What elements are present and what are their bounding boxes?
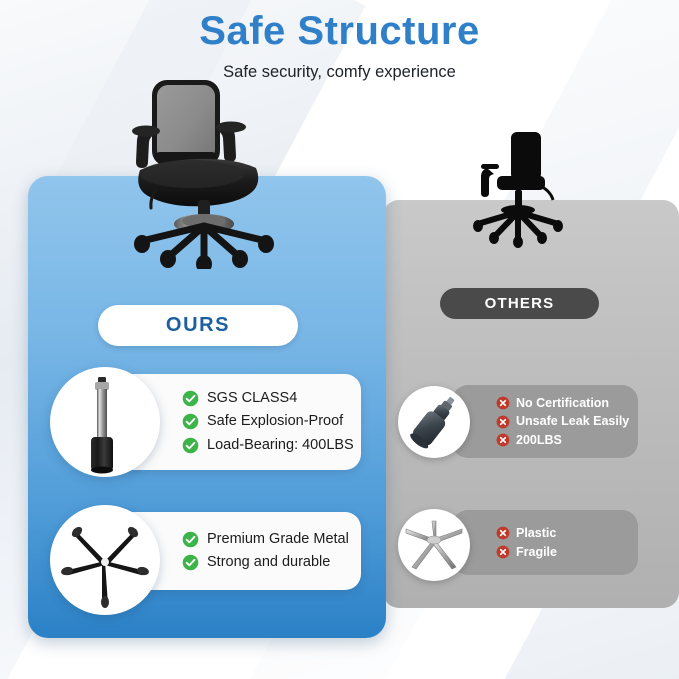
ours-label-text: OURS (166, 314, 230, 337)
feature-item: SGS CLASS4 (182, 388, 354, 409)
feature-item: Safe Explosion-Proof (182, 411, 354, 432)
red-cross-icon (496, 526, 510, 540)
feature-label: Unsafe Leak Easily (516, 412, 629, 430)
feature-item: Plastic (496, 524, 557, 542)
infographic-canvas: Safe Structure Safe security, comfy expe… (0, 0, 679, 679)
feature-list: No Certification Unsafe Leak Easily 200L… (452, 394, 629, 448)
green-check-icon (182, 390, 199, 407)
others-gas-cylinder-thumb (398, 386, 470, 458)
red-cross-icon (496, 396, 510, 410)
others-label-text: OTHERS (485, 295, 555, 312)
page-title: Safe Structure (0, 8, 679, 54)
green-check-icon (182, 554, 199, 571)
ours-label-pill: OURS (98, 305, 298, 346)
ours-chair-photo (110, 74, 305, 269)
feature-label: Plastic (516, 524, 556, 542)
green-check-icon (182, 437, 199, 454)
green-check-icon (182, 531, 199, 548)
feature-item: Strong and durable (182, 552, 349, 573)
feature-item: Load-Bearing: 400LBS (182, 435, 354, 456)
feature-label: Safe Explosion-Proof (207, 411, 343, 432)
gas-cylinder-dark-icon (398, 386, 470, 458)
green-check-icon (182, 413, 199, 430)
feature-label: Premium Grade Metal (207, 529, 349, 550)
gas-cylinder-chrome-icon (50, 367, 160, 477)
feature-item: Fragile (496, 543, 557, 561)
feature-label: No Certification (516, 394, 609, 412)
feature-label: Fragile (516, 543, 557, 561)
red-cross-icon (496, 415, 510, 429)
page-subtitle: Safe security, comfy experience (0, 63, 679, 82)
ours-star-base-thumb (50, 505, 160, 615)
others-feature-card-1: No Certification Unsafe Leak Easily 200L… (452, 385, 638, 458)
feature-item: 200LBS (496, 431, 629, 449)
feature-item: Premium Grade Metal (182, 529, 349, 550)
red-cross-icon (496, 545, 510, 559)
header: Safe Structure Safe security, comfy expe… (0, 8, 679, 82)
feature-label: Strong and durable (207, 552, 330, 573)
five-star-base-black-icon (50, 505, 160, 615)
ours-gas-cylinder-thumb (50, 367, 160, 477)
others-star-base-thumb (398, 509, 470, 581)
feature-label: 200LBS (516, 431, 562, 449)
others-feature-card-2: Plastic Fragile (452, 510, 638, 575)
feature-label: Load-Bearing: 400LBS (207, 435, 354, 456)
five-star-base-silver-icon (398, 509, 470, 581)
others-label-pill: OTHERS (440, 288, 599, 319)
feature-item: Unsafe Leak Easily (496, 412, 629, 430)
feature-label: SGS CLASS4 (207, 388, 297, 409)
feature-item: No Certification (496, 394, 629, 412)
red-cross-icon (496, 433, 510, 447)
others-chair-silhouette (455, 128, 585, 258)
